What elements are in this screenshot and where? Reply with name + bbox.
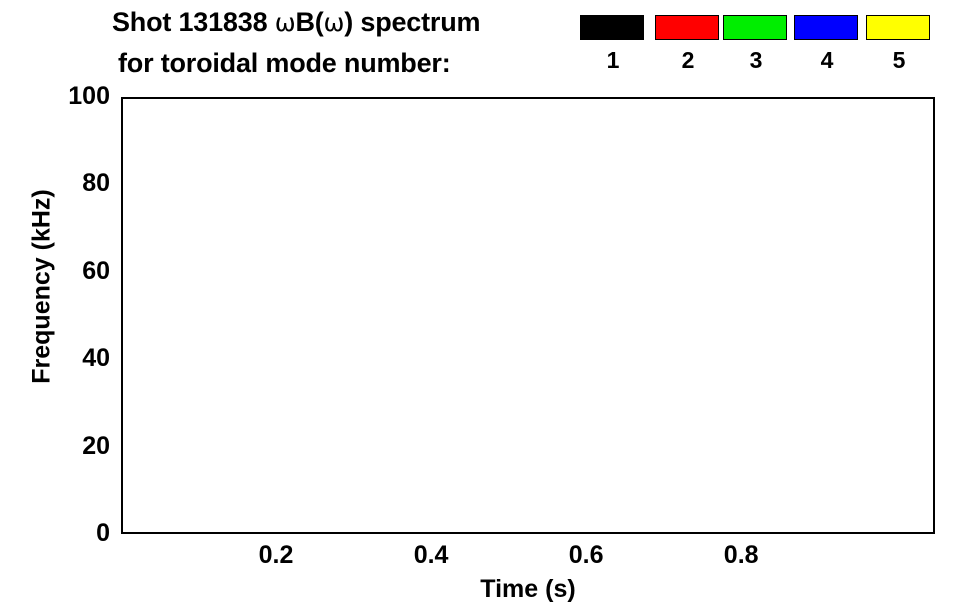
y-tick-label-0: 0 — [96, 521, 110, 546]
x-axis-tick-labels: 0.20.40.60.8 — [121, 543, 935, 573]
x-tick-label-0.4: 0.4 — [391, 543, 471, 568]
y-axis-title: Frequency (kHz) — [28, 67, 57, 507]
legend-swatch-3 — [723, 15, 787, 40]
y-tick-label-80: 80 — [82, 171, 110, 196]
y-tick-label-20: 20 — [82, 434, 110, 459]
legend-item-5: 5 — [866, 15, 932, 72]
y-tick-label-100: 100 — [68, 84, 110, 109]
legend-label-1: 1 — [580, 48, 646, 72]
legend-swatch-5 — [866, 15, 930, 40]
legend-item-1: 1 — [580, 15, 646, 72]
legend-label-3: 3 — [723, 48, 789, 72]
legend-item-4: 4 — [794, 15, 860, 72]
legend-label-5: 5 — [866, 48, 932, 72]
legend-swatch-4 — [794, 15, 858, 40]
legend-swatch-2 — [655, 15, 719, 40]
x-tick-label-0.6: 0.6 — [546, 543, 626, 568]
legend-label-2: 2 — [655, 48, 721, 72]
legend-label-4: 4 — [794, 48, 860, 72]
legend-item-2: 2 — [655, 15, 721, 72]
y-tick-label-40: 40 — [82, 346, 110, 371]
x-tick-label-0.2: 0.2 — [236, 543, 316, 568]
x-tick-label-0.8: 0.8 — [701, 543, 781, 568]
plot-frame — [121, 97, 935, 534]
legend-swatch-1 — [580, 15, 644, 40]
legend-item-3: 3 — [723, 15, 789, 72]
legend: 12345 — [0, 0, 963, 95]
y-tick-label-60: 60 — [82, 259, 110, 284]
plot-area — [121, 97, 935, 534]
x-axis-title: Time (s) — [121, 575, 935, 604]
